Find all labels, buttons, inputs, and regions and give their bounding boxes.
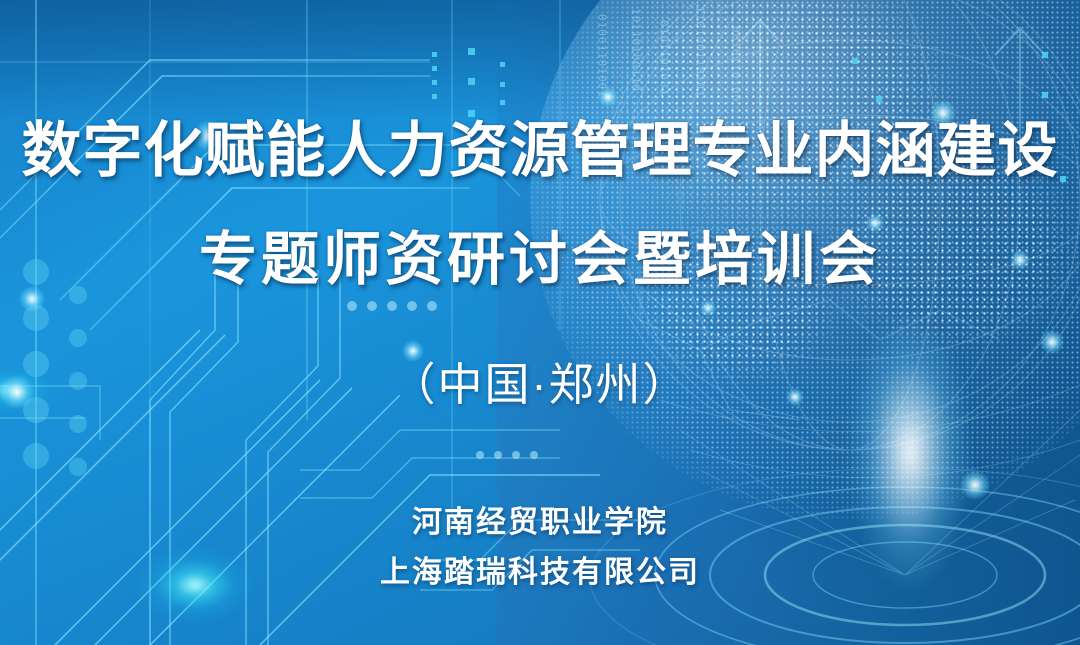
conference-banner: 01001101001 10110100110 0101101001 11010…	[0, 0, 1080, 645]
banner-title-line-1: 数字化赋能人力资源管理专业内涵建设	[0, 121, 1080, 181]
banner-text-content: 数字化赋能人力资源管理专业内涵建设 专题师资研讨会暨培训会 （中国·郑州） 河南…	[0, 0, 1080, 645]
banner-title-line-2: 专题师资研讨会暨培训会	[0, 231, 1080, 289]
banner-location: （中国·郑州）	[0, 348, 1080, 413]
banner-organizer-1: 河南经贸职业学院	[0, 497, 1080, 541]
banner-organizer-2: 上海踏瑞科技有限公司	[0, 547, 1080, 591]
